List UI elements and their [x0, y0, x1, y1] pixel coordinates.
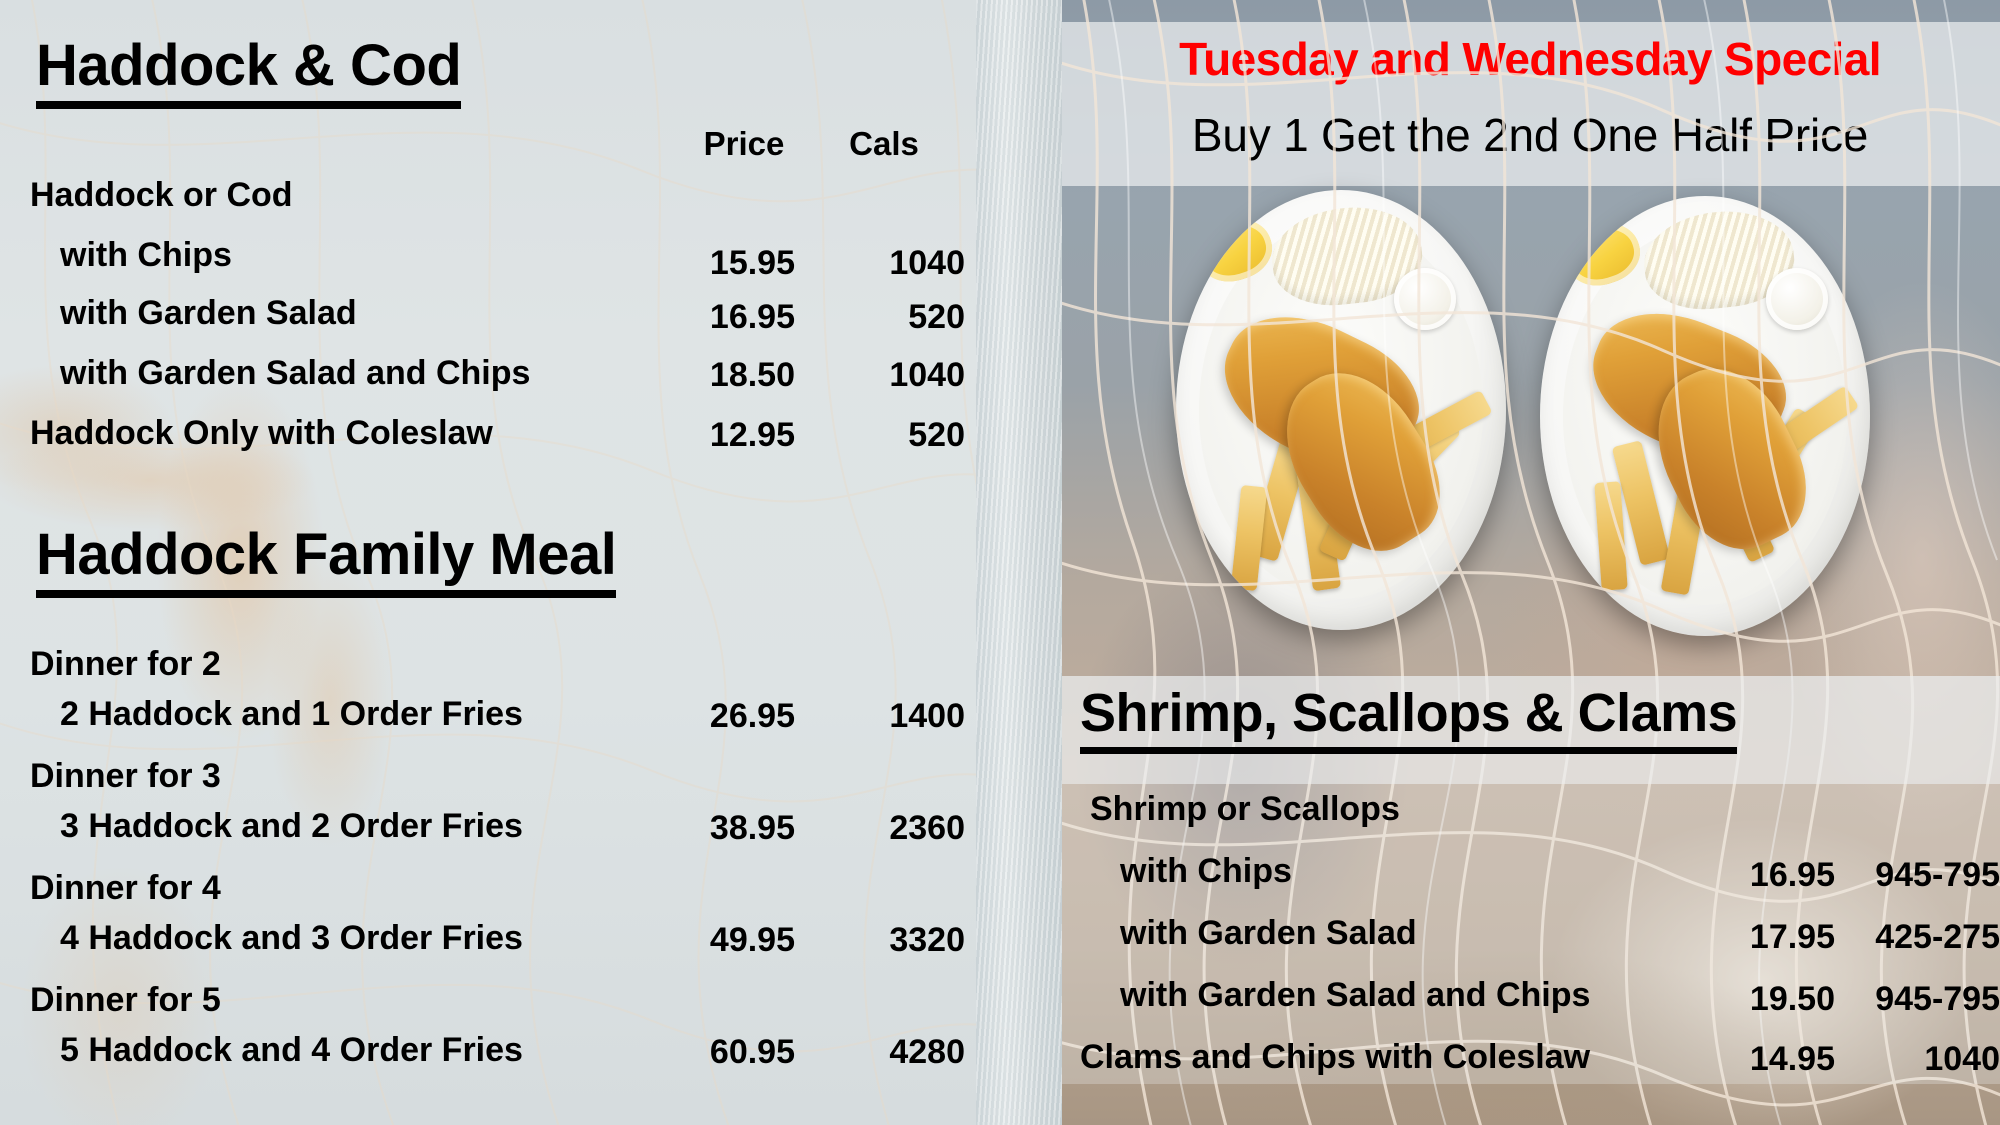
- item-name: 4 Haddock and 3 Order Fries: [30, 919, 523, 958]
- item-cals: 4280: [820, 1033, 965, 1072]
- panel-seam-divider: [976, 0, 1062, 1125]
- item-price: 12.95: [660, 416, 795, 455]
- item-cals: 945-795: [1840, 980, 2000, 1019]
- table-row: Dinner for 5: [30, 981, 950, 1031]
- item-name: Haddock Only with Coleslaw: [30, 414, 493, 453]
- item-price: 19.50: [1700, 980, 1835, 1019]
- section-title-shrimp-scallops-clams: Shrimp, Scallops & Clams: [1080, 686, 1737, 754]
- item-name: Dinner for 2: [30, 645, 221, 684]
- item-cals: 945-795: [1840, 856, 2000, 895]
- section-haddock-family-meal: Haddock Family Meal: [36, 525, 616, 598]
- item-name: 3 Haddock and 2 Order Fries: [30, 807, 523, 846]
- item-price: 26.95: [660, 697, 795, 736]
- item-name: with Garden Salad: [30, 294, 357, 333]
- item-price: 14.95: [1700, 1040, 1835, 1079]
- table-haddock-cod: Haddock or Cod with Chips 15.95 1040 wit…: [30, 170, 950, 472]
- table-row: with Garden Salad 16.95 520: [30, 292, 950, 352]
- item-name: 2 Haddock and 1 Order Fries: [30, 695, 523, 734]
- table-row: with Garden Salad and Chips 19.50 945-79…: [1080, 976, 1980, 1038]
- item-cals: 1040: [820, 244, 965, 283]
- item-name: with Chips: [30, 236, 232, 275]
- item-price: 60.95: [660, 1033, 795, 1072]
- item-cals: 425-275: [1840, 918, 2000, 957]
- table-shrimp-scallops-clams: Shrimp or Scallops with Chips 16.95 945-…: [1080, 790, 1980, 1100]
- item-price: 16.95: [1700, 856, 1835, 895]
- item-name: Dinner for 5: [30, 981, 221, 1020]
- item-name: with Garden Salad and Chips: [1120, 976, 1590, 1015]
- table-row: Clams and Chips with Coleslaw 14.95 1040: [1080, 1038, 1980, 1100]
- menu-board: Haddock & Cod Price Cals Haddock or Cod …: [0, 0, 2000, 1125]
- item-cals: 520: [820, 298, 965, 337]
- table-row: Dinner for 3: [30, 757, 950, 807]
- table-row: 2 Haddock and 1 Order Fries 26.95 1400: [30, 695, 950, 757]
- section-title-haddock-cod: Haddock & Cod: [36, 36, 461, 109]
- item-name: with Chips: [1120, 852, 1292, 891]
- item-price: 49.95: [660, 921, 795, 960]
- item-cals: 1040: [1840, 1040, 2000, 1079]
- item-name: with Garden Salad and Chips: [30, 354, 530, 393]
- column-header-price-1: Price: [690, 125, 798, 163]
- item-price: 17.95: [1700, 918, 1835, 957]
- table-row: Dinner for 4: [30, 869, 950, 919]
- table-row: 4 Haddock and 3 Order Fries 49.95 3320: [30, 919, 950, 981]
- item-cals: 520: [820, 416, 965, 455]
- table-haddock-family-meal: Dinner for 2 2 Haddock and 1 Order Fries…: [30, 645, 950, 1093]
- item-name: 5 Haddock and 4 Order Fries: [30, 1031, 523, 1070]
- item-cals: 3320: [820, 921, 965, 960]
- item-name: with Garden Salad: [1120, 914, 1417, 953]
- section-shrimp-scallops-clams: Shrimp, Scallops & Clams: [1080, 686, 1737, 754]
- item-price: 18.50: [660, 356, 795, 395]
- table-row: 3 Haddock and 2 Order Fries 38.95 2360: [30, 807, 950, 869]
- item-name: Clams and Chips with Coleslaw: [1080, 1038, 1590, 1077]
- table-row: Haddock Only with Coleslaw 12.95 520: [30, 412, 950, 472]
- column-header-cals-1: Cals: [830, 125, 938, 163]
- table-row: with Garden Salad and Chips 18.50 1040: [30, 352, 950, 412]
- item-cals: 2360: [820, 809, 965, 848]
- table-row: with Chips 15.95 1040: [30, 230, 950, 292]
- table-row: Dinner for 2: [30, 645, 950, 695]
- item-price: 16.95: [660, 298, 795, 337]
- table-row: with Garden Salad 17.95 425-275: [1080, 914, 1980, 976]
- section-haddock-cod: Haddock & Cod: [36, 36, 461, 109]
- item-price: 38.95: [660, 809, 795, 848]
- table-row: 5 Haddock and 4 Order Fries 60.95 4280: [30, 1031, 950, 1093]
- item-name: Haddock or Cod: [30, 176, 293, 215]
- item-name: Dinner for 3: [30, 757, 221, 796]
- section-title-haddock-family-meal: Haddock Family Meal: [36, 525, 616, 598]
- table-row: Shrimp or Scallops: [1080, 790, 1980, 852]
- table-row: Haddock or Cod: [30, 170, 950, 230]
- item-cals: 1400: [820, 697, 965, 736]
- table-row: with Chips 16.95 945-795: [1080, 852, 1980, 914]
- item-name: Shrimp or Scallops: [1090, 790, 1400, 829]
- item-cals: 1040: [820, 356, 965, 395]
- item-price: 15.95: [660, 244, 795, 283]
- item-name: Dinner for 4: [30, 869, 221, 908]
